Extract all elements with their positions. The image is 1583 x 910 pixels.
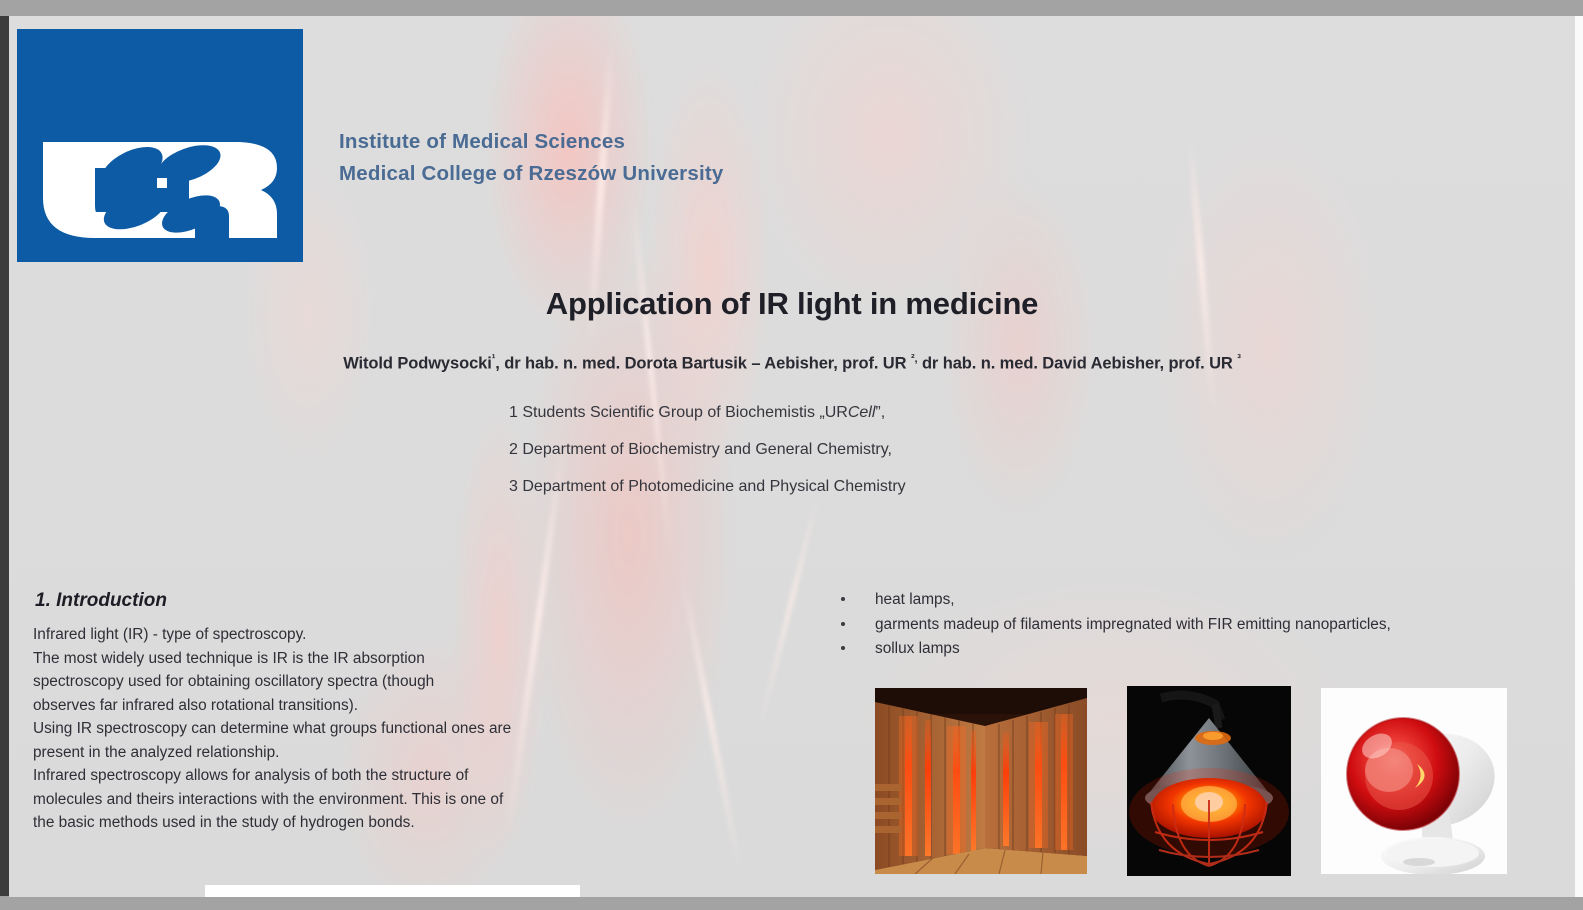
affiliation-number: 3 — [509, 478, 518, 495]
list-item: heat lamps, — [837, 588, 1537, 612]
affiliation-number: 2 — [509, 441, 518, 458]
photo-infrared-sauna-cabin — [875, 688, 1087, 874]
affiliation-item: 1 Students Scientific Group of Biochemis… — [509, 404, 1209, 422]
intro-line: the basic methods used in the study of h… — [33, 811, 673, 835]
intro-line: observes far infrared also rotational tr… — [33, 694, 673, 718]
intro-line: present in the analyzed relationship. — [33, 741, 673, 765]
affiliation-text-post: ”, — [875, 404, 885, 421]
screenshot-viewport: Institute of Medical Sciences Medical Co… — [0, 0, 1583, 910]
section-heading-introduction: 1. Introduction — [35, 590, 167, 612]
affiliation-text-italic: Cell — [848, 404, 876, 421]
affiliation-text: Department of Biochemistry and General C… — [522, 441, 892, 458]
institute-line-1: Institute of Medical Sciences — [339, 126, 723, 158]
affiliation-text: Department of Photomedicine and Physical… — [522, 478, 905, 495]
author-2: , dr hab. n. med. Dorota Bartusik – Aebi… — [495, 355, 911, 373]
intro-line: The most widely used technique is IR is … — [33, 647, 673, 671]
photo-infrared-heat-lamp — [1127, 686, 1291, 876]
introduction-body: Infrared light (IR) - type of spectrosco… — [33, 623, 673, 835]
infrared-sauna-image — [875, 688, 1087, 874]
list-item-label: garments madeup of filaments impregnated… — [875, 616, 1391, 633]
affiliation-number: 1 — [509, 404, 518, 421]
window-bottom-band — [0, 897, 1583, 910]
affiliation-text: Students Scientific Group of Biochemisti… — [522, 404, 847, 421]
author-3: dr hab. n. med. David Aebisher, prof. UR — [917, 355, 1237, 373]
affiliation-item: 3 Department of Photomedicine and Physic… — [509, 478, 1209, 496]
list-item-label: sollux lamps — [875, 640, 960, 657]
institute-header: Institute of Medical Sciences Medical Co… — [339, 126, 723, 190]
bullet-icon — [841, 646, 845, 650]
author-3-affil-marker: ³ — [1237, 353, 1241, 365]
affiliation-item: 2 Department of Biochemistry and General… — [509, 441, 1209, 459]
intro-line: Infrared spectroscopy allows for analysi… — [33, 764, 673, 788]
poster-page: Institute of Medical Sciences Medical Co… — [9, 16, 1575, 897]
author-1: Witold Podwysocki — [343, 355, 492, 373]
university-logo — [17, 29, 303, 262]
window-left-rail — [0, 16, 9, 896]
list-item: garments madeup of filaments impregnated… — [837, 613, 1537, 637]
therapy-lamp-image — [1321, 688, 1507, 874]
ur-logo-icon — [39, 134, 279, 239]
authors-line: Witold Podwysocki¹, dr hab. n. med. Doro… — [9, 353, 1575, 374]
poster-content: Institute of Medical Sciences Medical Co… — [9, 16, 1575, 897]
affiliations-list: 1 Students Scientific Group of Biochemis… — [509, 404, 1209, 515]
intro-line: spectroscopy used for obtaining oscillat… — [33, 670, 673, 694]
intro-line: molecules and theirs interactions with t… — [33, 788, 673, 812]
bullet-icon — [841, 597, 845, 601]
photo-infrared-therapy-device — [1321, 688, 1507, 874]
lower-content-box — [205, 885, 580, 897]
list-item-label: heat lamps, — [875, 591, 955, 608]
institute-line-2: Medical College of Rzeszów University — [339, 158, 723, 190]
window-top-band — [0, 0, 1583, 16]
ir-applications-list: heat lamps, garments madeup of filaments… — [837, 588, 1537, 662]
bullet-icon — [841, 622, 845, 626]
heat-lamp-image — [1127, 686, 1291, 876]
list-item: sollux lamps — [837, 637, 1537, 661]
poster-title: Application of IR light in medicine — [9, 286, 1575, 322]
intro-line: Infrared light (IR) - type of spectrosco… — [33, 623, 673, 647]
intro-line: Using IR spectroscopy can determine what… — [33, 717, 673, 741]
window-right-edge — [1575, 16, 1583, 897]
